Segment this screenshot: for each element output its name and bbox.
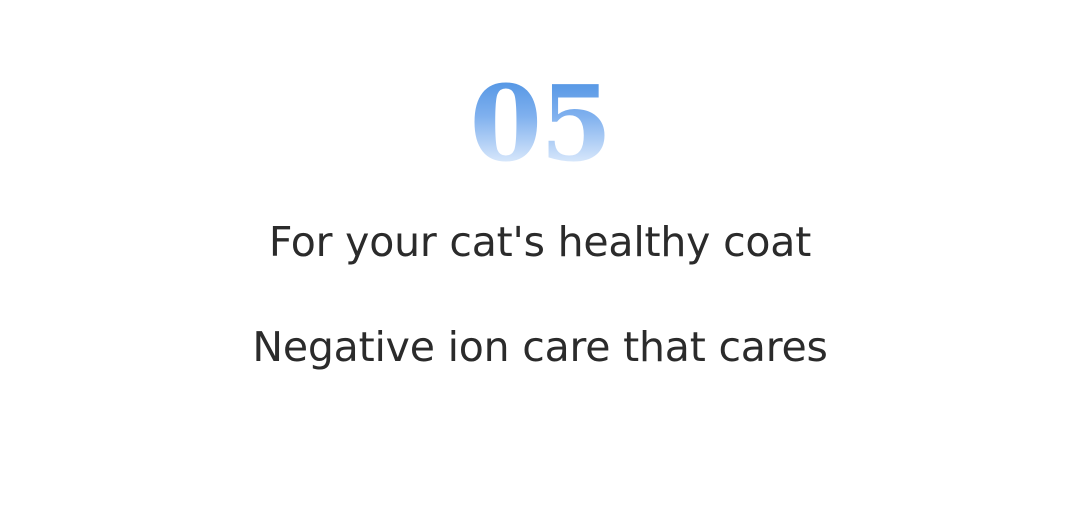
headline-block: For your cat's healthy coat Negative ion… — [0, 222, 1080, 368]
feature-slide: 05 For your cat's healthy coat Negative … — [0, 0, 1080, 523]
headline-line-primary: For your cat's healthy coat — [0, 222, 1080, 263]
step-number: 05 — [0, 72, 1080, 176]
headline-line-secondary: Negative ion care that cares — [0, 327, 1080, 368]
